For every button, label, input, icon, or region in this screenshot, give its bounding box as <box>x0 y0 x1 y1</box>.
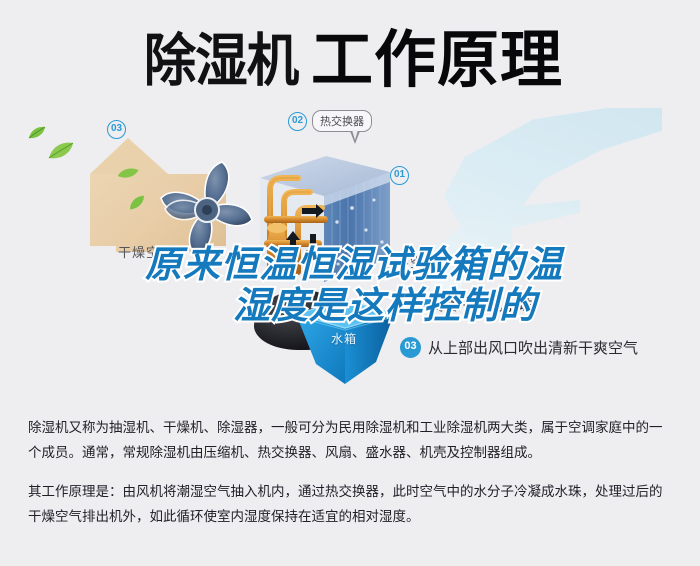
body-paragraph-2: 其工作原理是：由风机将潮湿空气抽入机内，通过热交换器，此时空气中的水分子冷凝成水… <box>28 480 674 530</box>
step-number: 03 <box>400 337 421 358</box>
callout-heat-exchanger: 02 热交换器 <box>288 110 372 132</box>
callout-number-02: 02 <box>288 112 307 131</box>
process-step: 03 从上部出风口吹出清新干爽空气 <box>400 337 690 358</box>
process-step: 02 发器冷凝成水珠 <box>400 294 690 315</box>
step-number: 02 <box>400 294 421 315</box>
dehumidifier-diagram: 水箱 02 热交换器 03 干燥空气 01 潮湿空气 02 发器冷凝成水珠 03… <box>0 104 700 400</box>
leaf-icon <box>48 142 74 160</box>
label-number-03: 03 <box>107 120 126 139</box>
process-steps-list: 02 发器冷凝成水珠 03 从上部出风口吹出清新干爽空气 <box>400 294 690 380</box>
label-wet-air: 潮湿空气 <box>382 252 438 271</box>
water-tank-label: 水箱 <box>331 330 357 347</box>
page-title-part2: 工作原理 <box>311 30 563 92</box>
body-paragraph-1: 除湿机又称为抽湿机、干燥机、除湿器，一般可分为民用除湿机和工业除湿机两大类，属于… <box>28 416 674 466</box>
page-title-part1: 除湿机 <box>144 33 299 90</box>
callout-bubble-tail-icon <box>350 131 360 144</box>
step-text: 发器冷凝成水珠 <box>428 294 533 315</box>
body-copy: 除湿机又称为抽湿机、干燥机、除湿器，一般可分为民用除湿机和工业除湿机两大类，属于… <box>28 416 674 530</box>
label-dry-air: 干燥空气 <box>118 242 174 261</box>
leaf-icon <box>28 126 46 140</box>
infographic-page: 除湿机 工作原理 <box>0 0 700 566</box>
callout-heat-exchanger-label: 热交换器 <box>312 110 372 132</box>
heat-exchanger-assembly <box>240 130 410 310</box>
step-text: 从上部出风口吹出清新干爽空气 <box>428 337 638 358</box>
page-title: 除湿机 工作原理 <box>0 22 700 100</box>
label-number-01: 01 <box>390 166 409 185</box>
